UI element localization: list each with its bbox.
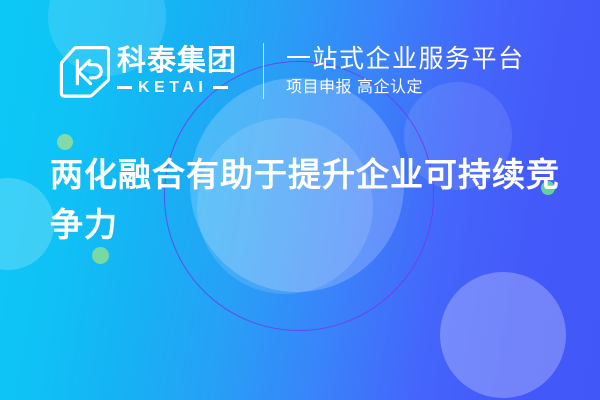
brand-name-cn: 科泰集团	[117, 47, 237, 76]
decorative-circle-left	[0, 178, 54, 270]
brand-wordmark: 科泰集团 KETAI	[117, 47, 237, 96]
brand-name-en-row: KETAI	[117, 80, 237, 96]
tagline-secondary: 项目申报 高企认定	[286, 78, 525, 97]
decorative-dot-green-upper-left	[57, 134, 73, 150]
tagline-primary: 一站式企业服务平台	[286, 45, 525, 73]
brand-name-en: KETAI	[132, 80, 213, 96]
promo-banner: 科泰集团 KETAI 一站式企业服务平台 项目申报 高企认定 两化融合有助于提升…	[0, 0, 600, 400]
dash-right-icon	[213, 86, 228, 89]
dash-left-icon	[117, 86, 132, 89]
headline-text: 两化融合有助于提升企业可持续竞争力	[50, 150, 560, 250]
banner-header: 科泰集团 KETAI 一站式企业服务平台 项目申报 高企认定	[56, 38, 525, 104]
tagline-block: 一站式企业服务平台 项目申报 高企认定	[286, 45, 525, 97]
brand-logo[interactable]: 科泰集团 KETAI	[56, 44, 237, 98]
ketai-kp-monogram-icon	[56, 44, 110, 98]
header-divider	[263, 43, 264, 99]
decorative-circle-bottom-right	[440, 272, 566, 398]
